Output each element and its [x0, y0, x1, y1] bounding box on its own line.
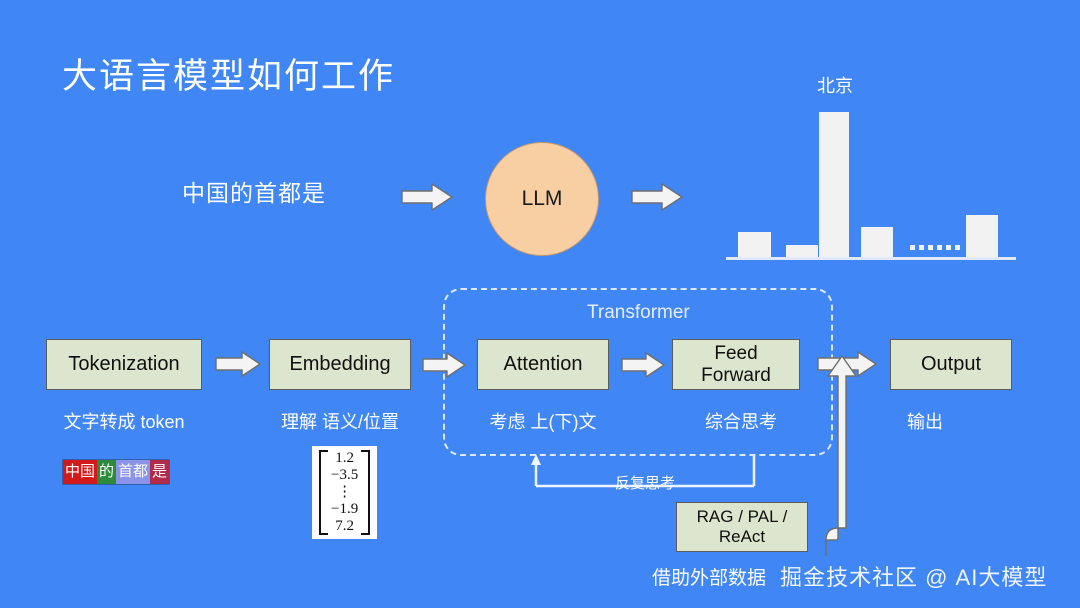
slide-canvas: 大语言模型如何工作 中国的首都是 LLM 北京 Transformer Toke… — [0, 0, 1080, 608]
transformer-label: Transformer — [587, 302, 690, 324]
vector-value: −3.5 — [331, 467, 358, 484]
caption-output: 输出 — [907, 408, 943, 434]
vector-value: 1.2 — [335, 450, 354, 467]
chart-axis-line — [726, 257, 1016, 260]
bracket-left-icon — [319, 450, 328, 535]
chart-bar — [861, 227, 893, 257]
pipeline-box-label: Feed Forward — [701, 343, 771, 387]
arrow-tokenization-to-embedding — [216, 350, 262, 378]
watermark: 掘金技术社区 @ AI大模型 — [780, 560, 1047, 592]
chart-bar-beijing — [819, 112, 849, 257]
pipeline-box-attention[interactable]: Attention — [477, 339, 609, 390]
pipeline-box-feed-forward[interactable]: Feed Forward — [672, 339, 800, 390]
token-chip: 中国 — [63, 460, 97, 484]
tools-box-rag-pal-react[interactable]: RAG / PAL / ReAct — [676, 502, 808, 552]
llm-node: LLM — [485, 142, 599, 256]
token-visualization: 中国 的 首都 是 — [62, 459, 170, 485]
caption-embedding: 理解 语义/位置 — [281, 408, 399, 434]
arrow-attention-to-feedforward — [622, 352, 666, 378]
token-chip: 首都 — [116, 460, 150, 484]
caption-attention: 考虑 上(下)文 — [490, 408, 597, 434]
output-probability-chart: 北京 — [726, 100, 1016, 260]
pipeline-box-label: Tokenization — [68, 353, 179, 376]
chart-bar — [966, 215, 998, 257]
pipeline-box-output[interactable]: Output — [890, 339, 1012, 390]
prompt-text: 中国的首都是 — [182, 174, 326, 208]
chart-bar — [786, 245, 818, 257]
tools-caption: 借助外部数据 — [652, 563, 766, 590]
reflection-loop-label: 反复思考 — [615, 472, 675, 493]
llm-label: LLM — [522, 187, 563, 211]
token-chip: 的 — [97, 460, 116, 484]
tools-box-label: RAG / PAL / ReAct — [697, 507, 788, 546]
chart-bar-label-beijing: 北京 — [817, 72, 853, 98]
arrow-llm-to-chart — [632, 182, 684, 212]
arrow-tools-to-output — [812, 352, 882, 556]
bracket-right-icon — [361, 450, 370, 535]
vector-value: −1.9 — [331, 501, 358, 518]
chart-ellipsis — [910, 245, 960, 250]
arrow-embedding-to-attention — [423, 352, 467, 378]
caption-feed-forward: 综合思考 — [705, 408, 777, 434]
page-title: 大语言模型如何工作 — [62, 48, 395, 99]
vector-ellipsis: ⋮ — [337, 484, 352, 501]
pipeline-box-embedding[interactable]: Embedding — [269, 339, 411, 390]
pipeline-box-label: Output — [921, 353, 981, 376]
token-chip: 是 — [150, 460, 169, 484]
embedding-vector: 1.2 −3.5 ⋮ −1.9 7.2 — [312, 446, 377, 539]
vector-value: 7.2 — [335, 518, 354, 535]
caption-tokenization: 文字转成 token — [63, 408, 184, 434]
arrow-prompt-to-llm — [402, 182, 454, 212]
pipeline-box-label: Attention — [504, 353, 583, 376]
pipeline-box-tokenization[interactable]: Tokenization — [46, 339, 202, 390]
pipeline-box-label: Embedding — [289, 353, 390, 376]
chart-bar — [738, 232, 771, 257]
